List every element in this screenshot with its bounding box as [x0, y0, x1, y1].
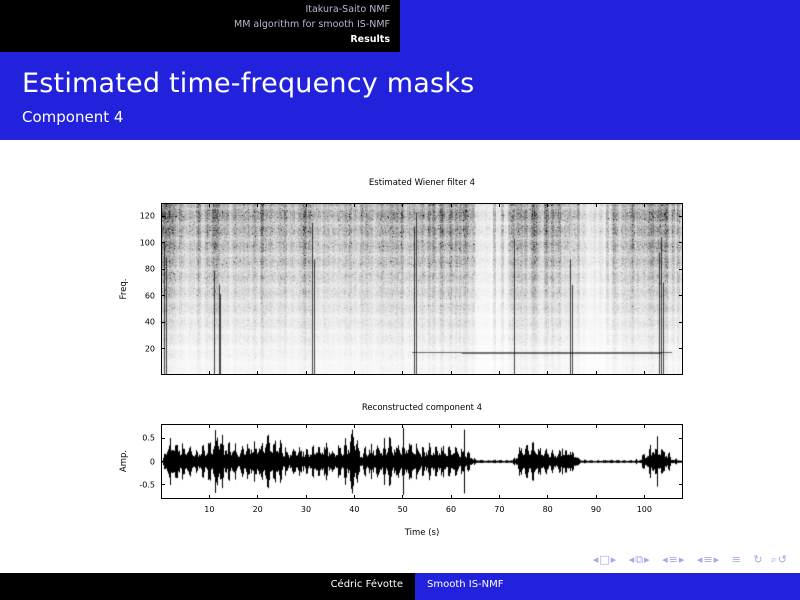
- waveform-xtick-label: 100: [637, 505, 652, 514]
- spectrogram-ytick-mark: [679, 295, 683, 296]
- waveform-ytick-label: 0.5: [123, 434, 155, 443]
- section-icon[interactable]: ≡: [703, 553, 713, 566]
- spectrogram-ytick-mark: [679, 269, 683, 270]
- subsection-icon[interactable]: ≡: [669, 553, 679, 566]
- spectrogram-ytick-label: 60: [123, 291, 155, 300]
- waveform-xtick-mark: [402, 424, 403, 428]
- waveform-xtick-label: 70: [494, 505, 504, 514]
- spectrogram-xtick-mark: [257, 203, 258, 207]
- next-slide-icon[interactable]: ▸: [611, 553, 618, 566]
- nav-group-frame[interactable]: ◂⧉▸: [629, 553, 655, 566]
- waveform-xtick-label: 30: [301, 505, 311, 514]
- spectrogram-xtick-mark: [547, 203, 548, 207]
- headline-item-is-nmf[interactable]: Itakura-Saito NMF: [0, 2, 390, 17]
- footer-author: Cédric Févotte: [331, 579, 403, 590]
- waveform-xlabel: Time (s): [405, 528, 440, 538]
- waveform-xtick-mark: [354, 495, 355, 499]
- spectrogram-xtick-mark: [499, 371, 500, 375]
- spectrogram-ytick-mark: [161, 322, 165, 323]
- waveform-ytick-mark: [161, 461, 165, 462]
- spectrogram-xtick-mark: [354, 371, 355, 375]
- waveform-xtick-label: 60: [446, 505, 456, 514]
- spectrogram-ytick-mark: [679, 216, 683, 217]
- waveform-xtick-mark: [596, 495, 597, 499]
- spectrogram-ytick-mark: [161, 269, 165, 270]
- nav-group-section[interactable]: ◂≡▸: [697, 553, 725, 566]
- waveform-xtick-mark: [644, 495, 645, 499]
- spectrogram-ytick-mark: [679, 348, 683, 349]
- waveform-ytick-mark: [161, 438, 165, 439]
- spectrogram-ytick-mark: [679, 242, 683, 243]
- waveform-xtick-mark: [596, 424, 597, 428]
- footer-talk-title: Smooth IS-NMF: [427, 579, 504, 590]
- waveform-xtick-mark: [209, 424, 210, 428]
- waveform-xtick-mark: [209, 495, 210, 499]
- waveform-xtick-mark: [354, 424, 355, 428]
- waveform-canvas: [162, 425, 682, 498]
- waveform-xtick-mark: [306, 424, 307, 428]
- waveform-xtick-label: 20: [253, 505, 263, 514]
- waveform-ytick-label: 0: [123, 457, 155, 466]
- title-block: Estimated time-frequency masks Component…: [0, 52, 800, 140]
- nav-group-subsection[interactable]: ◂≡▸: [662, 553, 690, 566]
- spectrogram-xtick-mark: [354, 203, 355, 207]
- waveform-ytick-mark: [161, 484, 165, 485]
- beamer-navigation-symbols: ◂□▸ ◂⧉▸ ◂≡▸ ◂≡▸ ≡ ↻⌕↺: [593, 552, 788, 568]
- waveform-xtick-mark: [257, 495, 258, 499]
- headline-section-list: Itakura-Saito NMF MM algorithm for smoot…: [0, 0, 400, 52]
- frame-icon[interactable]: ⧉: [635, 553, 644, 566]
- waveform-xtick-label: 40: [349, 505, 359, 514]
- spectrogram-ytick-mark: [161, 348, 165, 349]
- doc-icon[interactable]: ≡: [732, 553, 742, 566]
- waveform-xtick-mark: [499, 495, 500, 499]
- forward-icon[interactable]: ↺: [778, 553, 788, 566]
- spectrogram-xtick-mark: [306, 371, 307, 375]
- spectrogram-ytick-label: 20: [123, 344, 155, 353]
- waveform-ytick-mark: [679, 438, 683, 439]
- waveform-title: Reconstructed component 4: [362, 403, 482, 413]
- spectrogram-xtick-mark: [306, 203, 307, 207]
- waveform-xtick-label: 50: [398, 505, 408, 514]
- footer-author-box: Cédric Févotte: [0, 573, 415, 600]
- waveform-ytick-mark: [679, 461, 683, 462]
- waveform-ytick-mark: [679, 484, 683, 485]
- spectrogram-ytick-mark: [679, 322, 683, 323]
- spectrogram-xtick-mark: [547, 371, 548, 375]
- waveform-ytick-label: -0.5: [123, 480, 155, 489]
- next-frame-icon[interactable]: ▸: [644, 553, 651, 566]
- spectrogram-ytick-label: 100: [123, 238, 155, 247]
- spectrogram-ytick-mark: [161, 295, 165, 296]
- waveform-xtick-label: 80: [543, 505, 553, 514]
- spectrogram-canvas: [162, 204, 682, 374]
- spectrogram-xtick-mark: [402, 371, 403, 375]
- waveform-xtick-mark: [547, 495, 548, 499]
- page-subtitle: Component 4: [22, 108, 123, 126]
- spectrogram-xtick-mark: [596, 371, 597, 375]
- waveform-xtick-mark: [547, 424, 548, 428]
- spectrogram-xtick-mark: [402, 203, 403, 207]
- waveform-xtick-mark: [451, 424, 452, 428]
- spectrogram-plot: [161, 203, 683, 375]
- next-section-icon[interactable]: ▸: [714, 553, 721, 566]
- spectrogram-ytick-mark: [161, 216, 165, 217]
- spectrogram-xtick-mark: [644, 203, 645, 207]
- nav-group-slide[interactable]: ◂□▸: [593, 553, 622, 566]
- waveform-xtick-mark: [402, 495, 403, 499]
- first-frame-icon[interactable]: □: [599, 553, 610, 566]
- spectrogram-ytick-label: 80: [123, 265, 155, 274]
- headline-item-mm-algorithm[interactable]: MM algorithm for smooth IS-NMF: [0, 17, 390, 32]
- headline-item-results[interactable]: Results: [0, 32, 390, 47]
- waveform-plot: [161, 424, 683, 499]
- spectrogram-xtick-mark: [596, 203, 597, 207]
- waveform-xtick-mark: [451, 495, 452, 499]
- waveform-xtick-mark: [257, 424, 258, 428]
- footer-bar: Cédric Févotte Smooth IS-NMF: [0, 573, 800, 600]
- spectrogram-xtick-mark: [257, 371, 258, 375]
- slide: Itakura-Saito NMF MM algorithm for smoot…: [0, 0, 800, 600]
- spectrogram-xtick-mark: [209, 371, 210, 375]
- figure-area: Estimated Wiener filter 4 Freq. 20406080…: [0, 140, 800, 545]
- next-subsection-icon[interactable]: ▸: [679, 553, 686, 566]
- spectrogram-xtick-mark: [451, 203, 452, 207]
- search-icon[interactable]: ⌕: [771, 553, 778, 566]
- spectrogram-xtick-mark: [209, 203, 210, 207]
- spectrogram-ytick-label: 120: [123, 212, 155, 221]
- page-title: Estimated time-frequency masks: [22, 68, 474, 99]
- waveform-xtick-label: 10: [204, 505, 214, 514]
- waveform-xtick-mark: [499, 424, 500, 428]
- waveform-xtick-mark: [644, 424, 645, 428]
- spectrogram-xtick-mark: [644, 371, 645, 375]
- spectrogram-xtick-mark: [499, 203, 500, 207]
- waveform-xtick-label: 90: [591, 505, 601, 514]
- waveform-xtick-mark: [306, 495, 307, 499]
- spectrogram-xtick-mark: [451, 371, 452, 375]
- back-icon[interactable]: ↻: [753, 553, 763, 566]
- spectrogram-ytick-mark: [161, 242, 165, 243]
- spectrogram-ytick-label: 40: [123, 318, 155, 327]
- spectrogram-title: Estimated Wiener filter 4: [369, 178, 475, 188]
- headline-bar: Itakura-Saito NMF MM algorithm for smoot…: [0, 0, 800, 52]
